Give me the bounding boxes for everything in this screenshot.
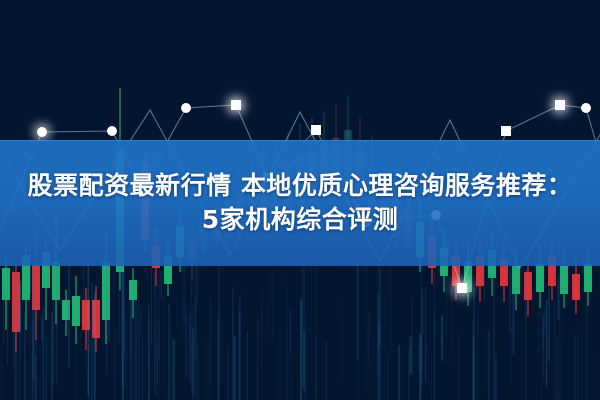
banner-image: 股票配资最新行情 本地优质心理咨询服务推荐： 5家机构综合评测 — [0, 0, 600, 400]
title-band — [0, 140, 600, 266]
